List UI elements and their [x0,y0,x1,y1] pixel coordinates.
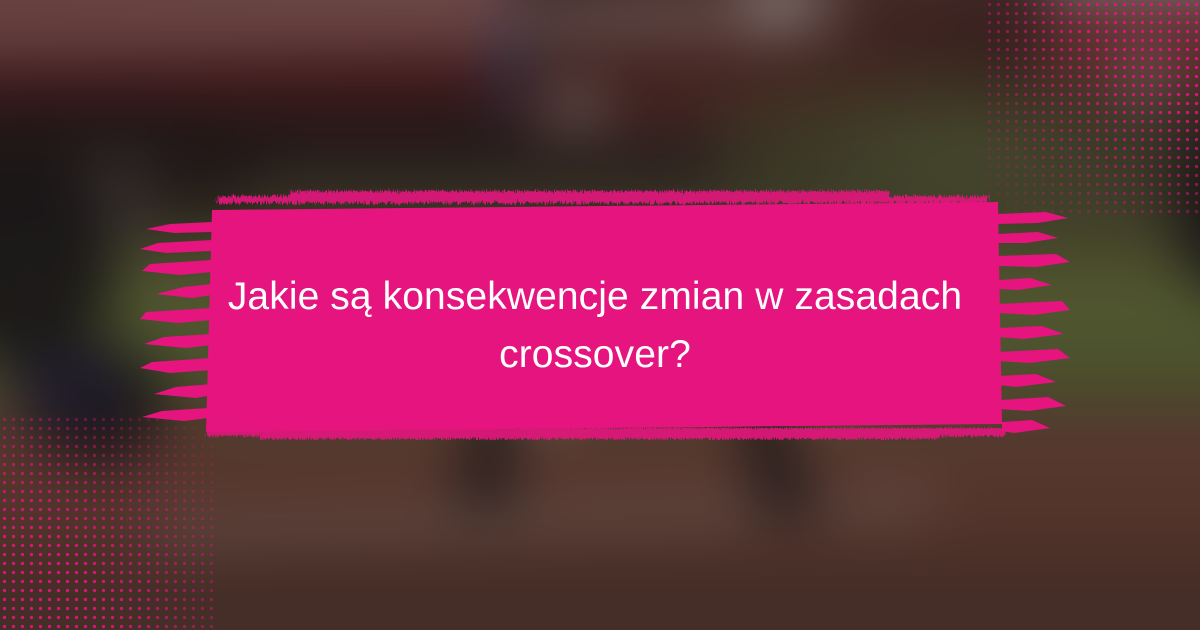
headline-line-1: Jakie są konsekwencje zmian w zasadach [210,268,980,326]
headline-line-2: crossover? [210,326,980,384]
halftone-dots-bottom-left-icon [0,415,215,630]
social-card: Jakie są konsekwencje zmian w zasadach c… [0,0,1200,630]
halftone-dots-top-right-icon [985,0,1200,215]
page-title: Jakie są konsekwencje zmian w zasadach c… [210,268,980,383]
